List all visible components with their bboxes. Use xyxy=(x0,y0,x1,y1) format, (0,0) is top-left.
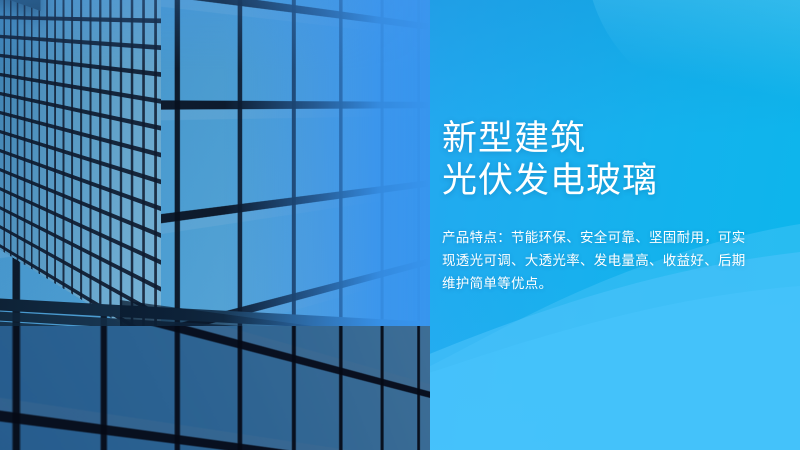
copy-block: 新型建筑 光伏发电玻璃 产品特点：节能环保、安全可靠、坚固耐用，可实现透光可调、… xyxy=(442,118,752,295)
headline-line-2: 光伏发电玻璃 xyxy=(442,160,752,202)
promo-banner: 新型建筑 光伏发电玻璃 产品特点：节能环保、安全可靠、坚固耐用，可实现透光可调、… xyxy=(0,0,800,450)
headline-line-1: 新型建筑 xyxy=(442,118,752,160)
product-description: 产品特点：节能环保、安全可靠、坚固耐用，可实现透光可调、大透光率、发电量高、收益… xyxy=(442,226,747,295)
tower-upright xyxy=(0,0,430,330)
building-photo xyxy=(0,0,430,450)
